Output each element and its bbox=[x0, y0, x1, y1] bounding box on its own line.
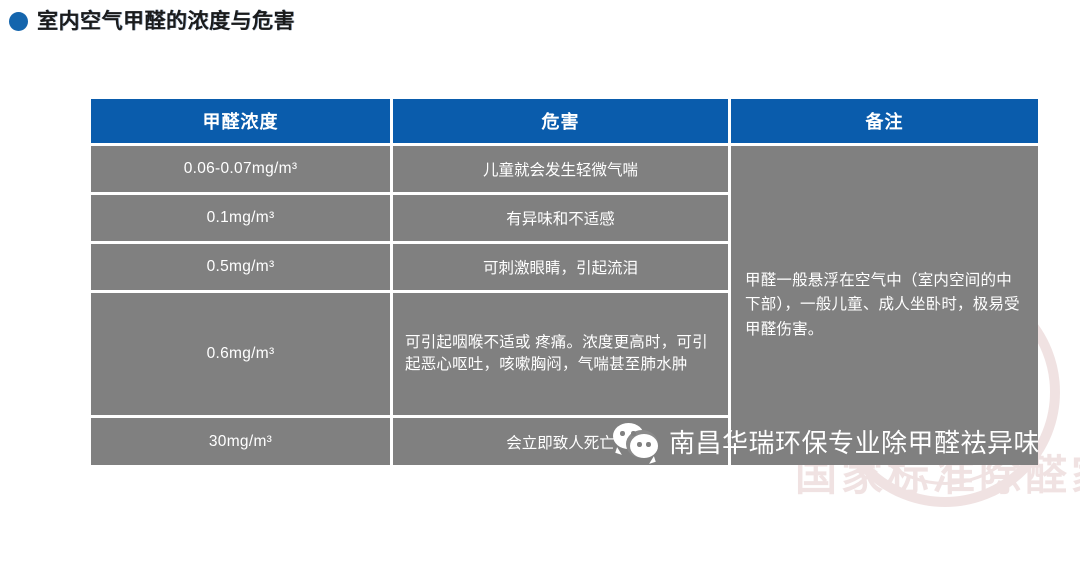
cell-concentration: 0.6mg/m³ bbox=[91, 293, 390, 415]
cell-harm: 会立即致人死亡 bbox=[393, 418, 728, 465]
table-row: 0.06-0.07mg/m³ 儿童就会发生轻微气喘 甲醛一般悬浮在空气中（室内空… bbox=[91, 146, 1038, 192]
formaldehyde-concentration-table: 甲醛浓度 危害 备注 0.06-0.07mg/m³ 儿童就会发生轻微气喘 甲醛一… bbox=[88, 96, 1041, 468]
cell-concentration: 0.5mg/m³ bbox=[91, 244, 390, 290]
cell-harm: 儿童就会发生轻微气喘 bbox=[393, 146, 728, 192]
table-header: 甲醛浓度 危害 备注 bbox=[91, 99, 1038, 143]
cell-note: 甲醛一般悬浮在空气中（室内空间的中下部），一般儿童、成人坐卧时，极易受甲醛伤害。 bbox=[731, 146, 1038, 465]
cell-harm: 可引起咽喉不适或 疼痛。浓度更高时，可引起恶心呕吐，咳嗽胸闷，气喘甚至肺水肿 bbox=[393, 293, 728, 415]
cell-concentration: 0.06-0.07mg/m³ bbox=[91, 146, 390, 192]
cell-concentration: 30mg/m³ bbox=[91, 418, 390, 465]
table-header-row: 甲醛浓度 危害 备注 bbox=[91, 99, 1038, 143]
page-title: 室内空气甲醛的浓度与危害 bbox=[37, 5, 295, 35]
cell-harm: 有异味和不适感 bbox=[393, 195, 728, 241]
column-header-concentration: 甲醛浓度 bbox=[91, 99, 390, 143]
cell-concentration: 0.1mg/m³ bbox=[91, 195, 390, 241]
column-header-note: 备注 bbox=[731, 99, 1038, 143]
bullet-icon bbox=[9, 12, 28, 31]
page-heading: 室内空气甲醛的浓度与危害 bbox=[0, 0, 295, 40]
cell-harm: 可刺激眼睛，引起流泪 bbox=[393, 244, 728, 290]
table-body: 0.06-0.07mg/m³ 儿童就会发生轻微气喘 甲醛一般悬浮在空气中（室内空… bbox=[91, 146, 1038, 465]
column-header-harm: 危害 bbox=[393, 99, 728, 143]
